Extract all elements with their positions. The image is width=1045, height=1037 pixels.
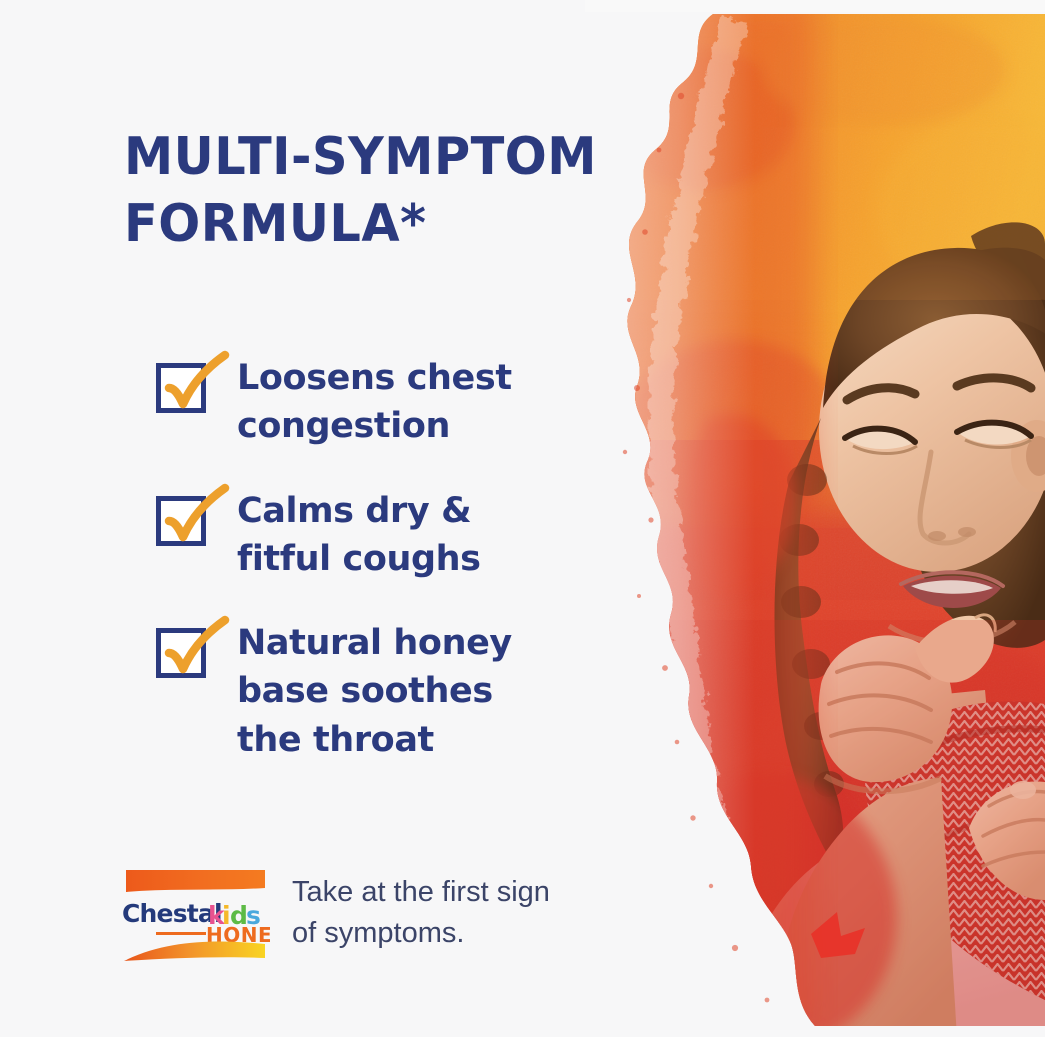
benefit-text: Calms dry & fitful coughs — [237, 481, 481, 584]
checked-checkbox-icon — [155, 485, 229, 547]
page-title: MULTI-SYMPTOM FORMULA* — [124, 124, 571, 257]
ad-card: MULTI-SYMPTOM FORMULA* Loosens chest con… — [0, 0, 1045, 1037]
checked-checkbox-icon — [155, 352, 229, 414]
tagline-line-2: of symptoms. — [292, 913, 557, 954]
list-item: Natural honey base soothes the throat — [155, 613, 595, 764]
headline-line-2: FORMULA* — [124, 191, 571, 258]
chestal-kids-honey-logo: Chestal k i d s HONEY — [118, 866, 270, 964]
benefit-line-2: base soothes — [237, 671, 493, 711]
list-item: Calms dry & fitful coughs — [155, 481, 595, 584]
tagline: Take at the first sign of symptoms. — [292, 872, 557, 958]
benefit-line-2: fitful coughs — [237, 539, 481, 579]
coughing-girl-watercolor-photo — [585, 0, 1045, 1037]
benefit-line-1: Calms dry & — [237, 491, 471, 531]
benefit-line-1: Natural honey — [237, 623, 512, 663]
benefit-text: Natural honey base soothes the throat — [237, 613, 512, 764]
benefit-text: Loosens chest congestion — [237, 348, 512, 451]
footer-block: Chestal k i d s HONEY Take at — [118, 866, 557, 964]
content-column: MULTI-SYMPTOM FORMULA* Loosens chest con… — [0, 0, 620, 1037]
benefits-list: Loosens chest congestion Calms dry & fit… — [155, 348, 595, 794]
checked-checkbox-icon — [155, 617, 229, 679]
headline-line-1: MULTI-SYMPTOM — [124, 124, 571, 191]
list-item: Loosens chest congestion — [155, 348, 595, 451]
benefit-line-3: the throat — [237, 720, 434, 760]
benefit-line-1: Loosens chest — [237, 358, 512, 398]
tagline-line-1: Take at the first sign — [292, 872, 557, 913]
benefit-line-2: congestion — [237, 406, 450, 446]
